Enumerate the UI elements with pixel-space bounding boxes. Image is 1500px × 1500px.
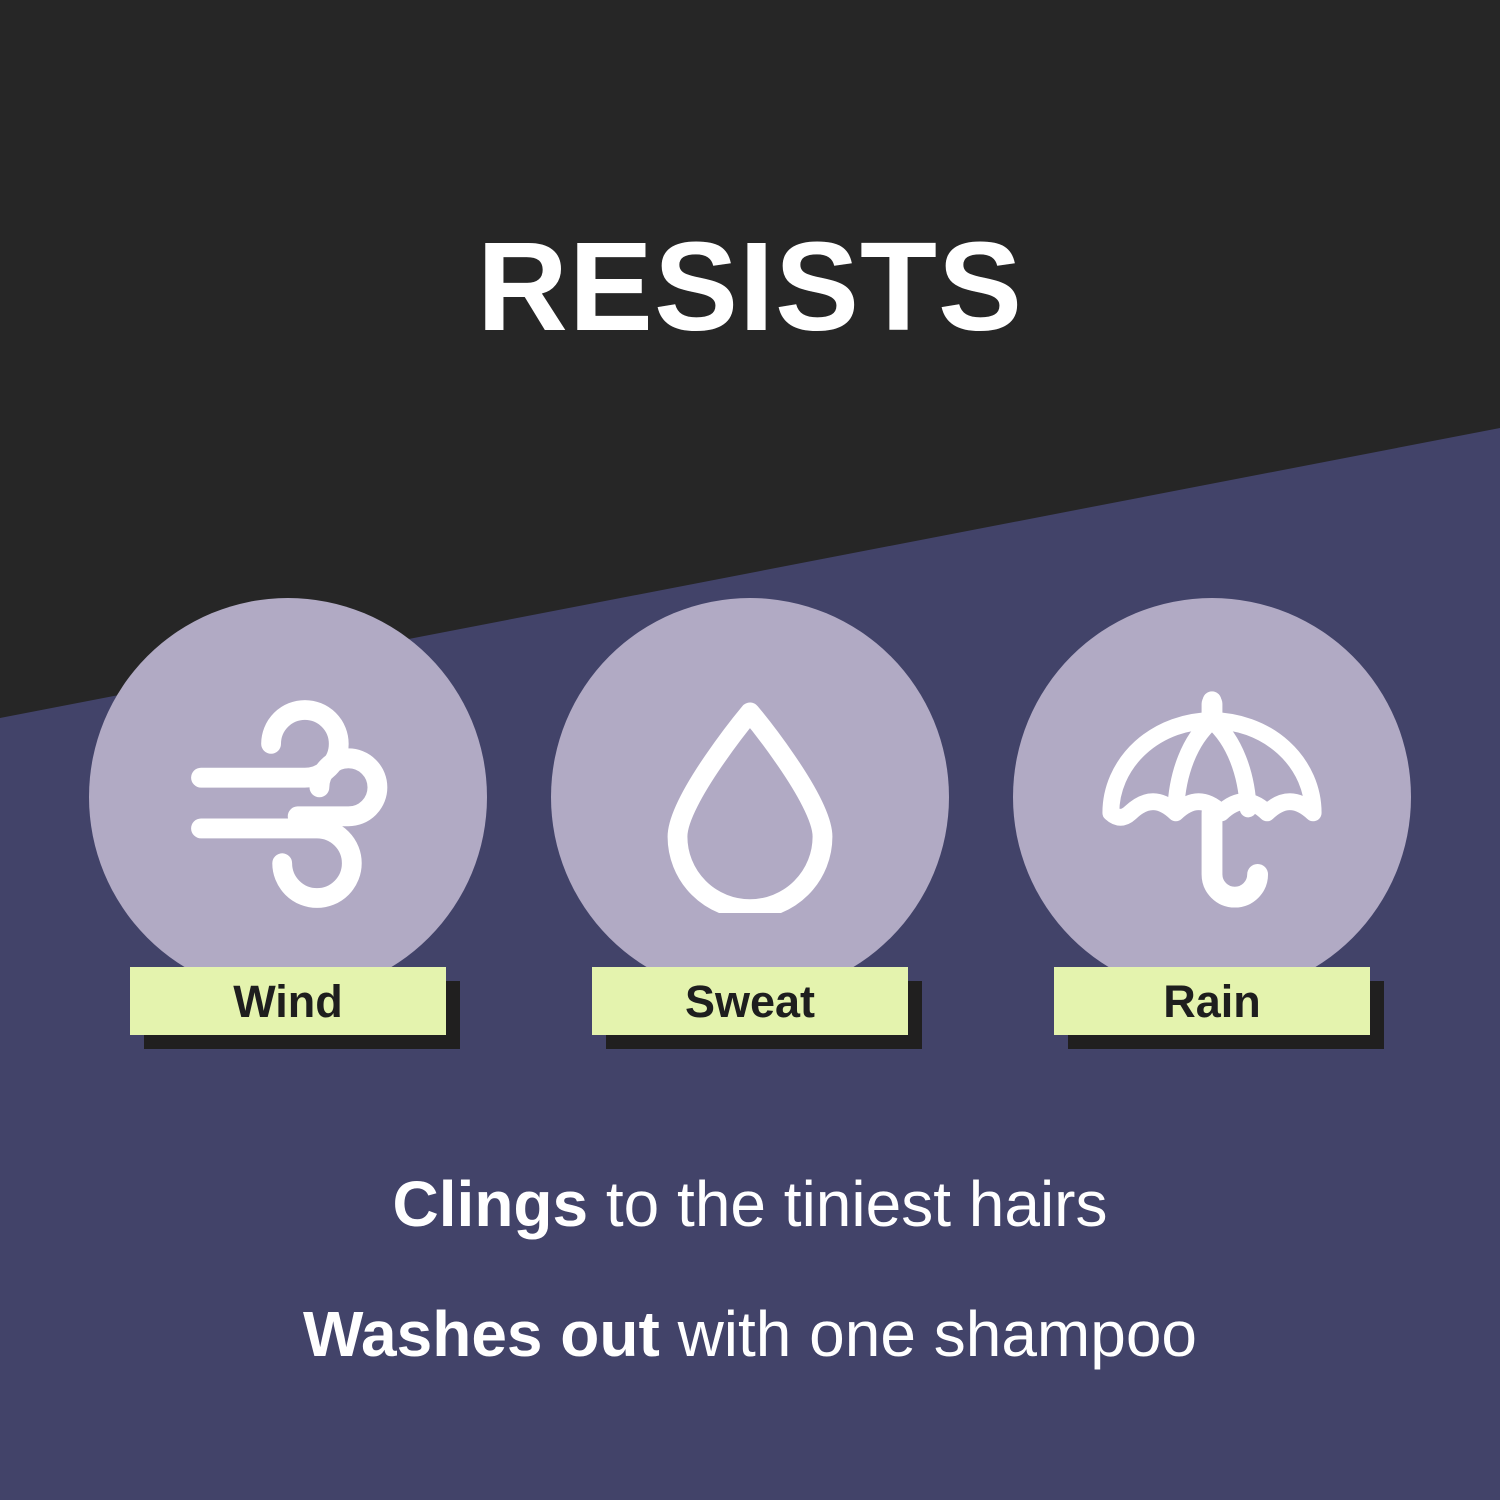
badge-label-wind: Wind xyxy=(233,979,343,1024)
badge-sweat[interactable]: Sweat xyxy=(592,967,908,1035)
icon-circle-rain xyxy=(1013,598,1411,996)
badge-wrap-wind: Wind xyxy=(130,967,446,1035)
feature-rain: Rain xyxy=(1012,598,1412,1035)
badge-label-sweat: Sweat xyxy=(685,979,815,1024)
badge-rain[interactable]: Rain xyxy=(1054,967,1370,1035)
badge-wrap-sweat: Sweat xyxy=(592,967,908,1035)
badge-wind[interactable]: Wind xyxy=(130,967,446,1035)
page-title: RESISTS xyxy=(0,224,1500,350)
feature-card: RESISTS Wind xyxy=(0,0,1500,1500)
feature-wind: Wind xyxy=(88,598,488,1035)
tagline-line-1: Clings to the tiniest hairs xyxy=(0,1172,1500,1236)
tagline-line-1-regular: to the tiniest hairs xyxy=(588,1168,1107,1240)
icon-circle-sweat xyxy=(551,598,949,996)
icon-circle-wind xyxy=(89,598,487,996)
wind-icon xyxy=(172,681,404,913)
tagline-line-1-bold: Clings xyxy=(393,1168,589,1240)
tagline-line-2: Washes out with one shampoo xyxy=(0,1302,1500,1366)
feature-row: Wind Sweat xyxy=(0,598,1500,1035)
umbrella-icon xyxy=(1093,678,1331,916)
tagline-line-2-regular: with one shampoo xyxy=(660,1298,1197,1370)
feature-sweat: Sweat xyxy=(550,598,950,1035)
water-drop-icon xyxy=(634,681,866,913)
badge-wrap-rain: Rain xyxy=(1054,967,1370,1035)
tagline-line-2-bold: Washes out xyxy=(303,1298,660,1370)
badge-label-rain: Rain xyxy=(1163,979,1261,1024)
